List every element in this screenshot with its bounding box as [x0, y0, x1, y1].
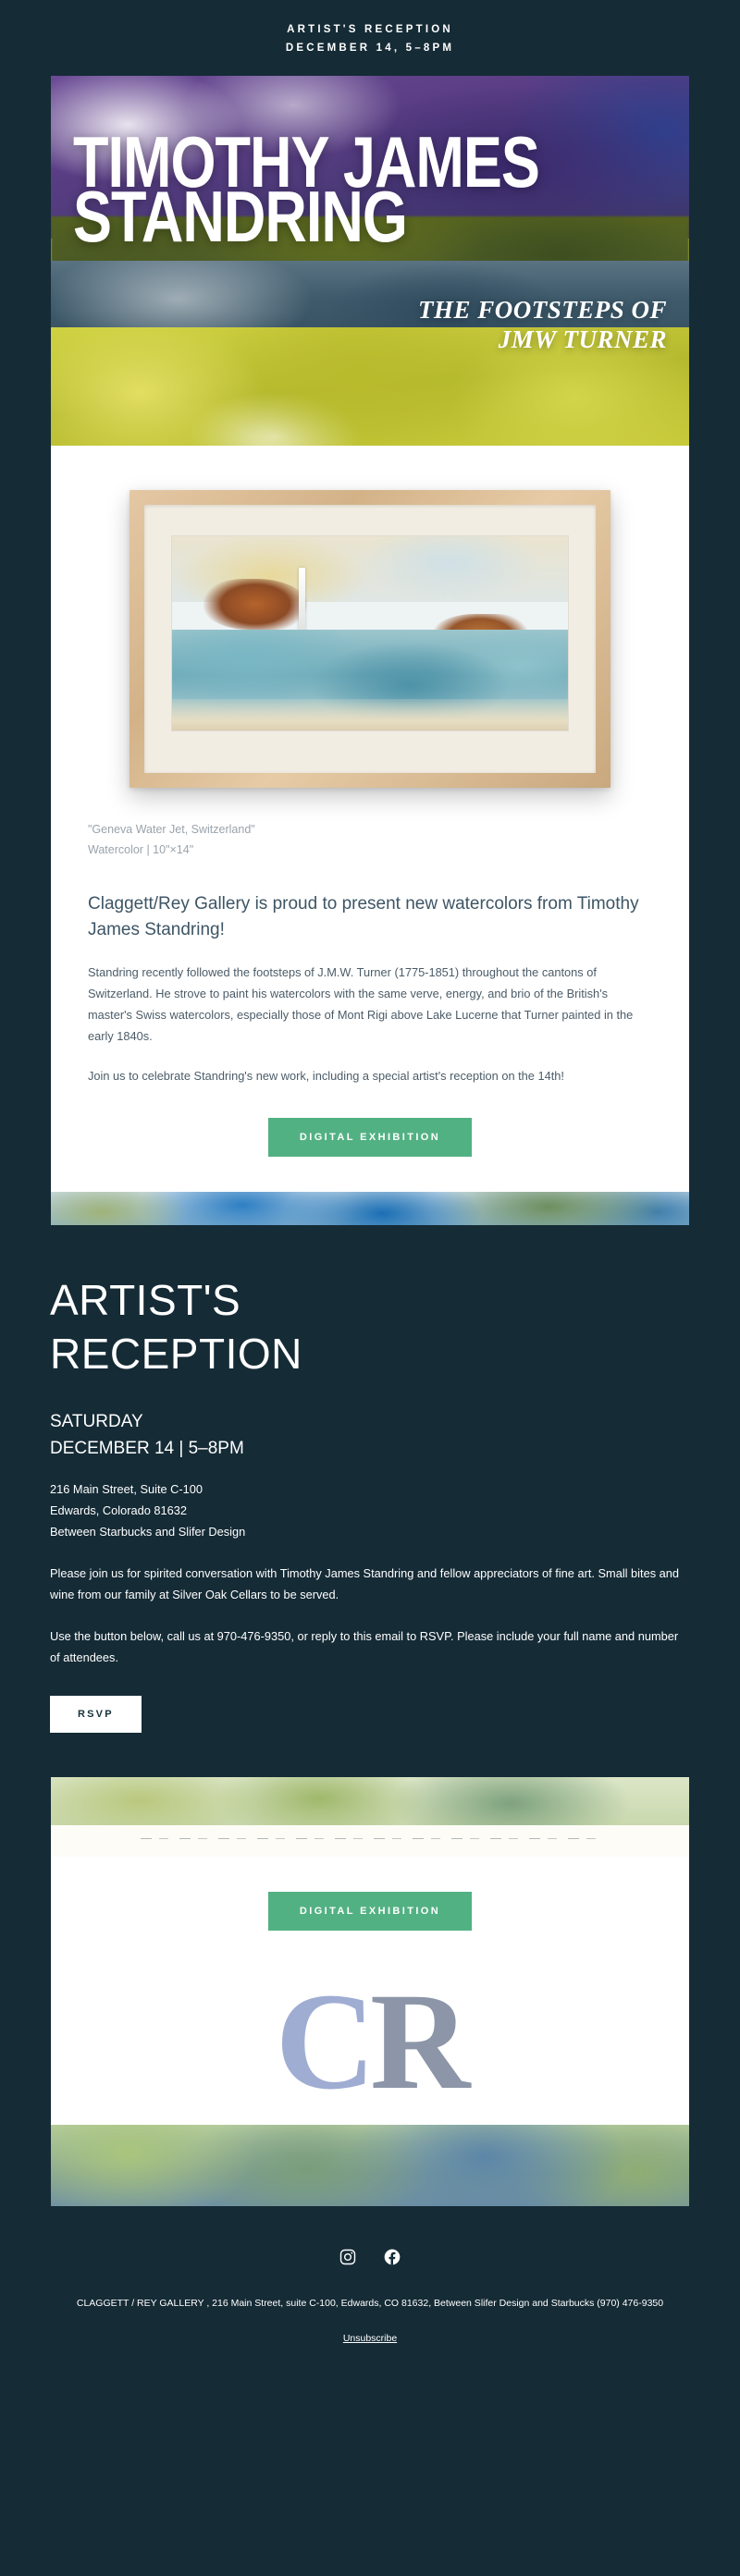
intro-copy-section: Claggett/Rey Gallery is proud to present…: [51, 860, 689, 1086]
intro-cta-wrapper: DIGITAL EXHIBITION: [51, 1086, 689, 1157]
preheader-line-2: DECEMBER 14, 5–8PM: [0, 39, 740, 57]
instagram-icon[interactable]: [338, 2247, 358, 2267]
artwork-painting: [172, 536, 568, 730]
rsvp-button[interactable]: RSVP: [50, 1696, 142, 1733]
logo-letter-r: R: [370, 1965, 464, 2118]
hero-subtitle-line1: THE FOOTSTEPS OF: [73, 296, 667, 325]
social-links-row: [55, 2247, 684, 2267]
painting-water-jet: [299, 568, 305, 633]
hero-subtitle-line2: JMW TURNER: [73, 325, 667, 355]
reception-paragraph-2: Use the button below, call us at 970-476…: [50, 1625, 690, 1668]
artwork-frame: [129, 490, 610, 788]
painting-left-cliff: [203, 579, 306, 630]
reception-title-line1: ARTIST'S: [50, 1273, 690, 1327]
logo-letter-c: C: [276, 1965, 370, 2118]
email-page: ARTIST'S RECEPTION DECEMBER 14, 5–8PM TI…: [0, 0, 740, 2377]
intro-paragraph-1: Standring recently followed the footstep…: [88, 962, 652, 1047]
hero-subtitle: THE FOOTSTEPS OF JMW TURNER: [73, 296, 667, 355]
bottom-image-block: DIGITAL EXHIBITION CR: [51, 1777, 689, 2206]
bottom-cta-wrapper: DIGITAL EXHIBITION: [51, 1857, 689, 1958]
reception-day: SATURDAY: [50, 1408, 690, 1435]
reception-address-line-1: 216 Main Street, Suite C-100: [50, 1478, 690, 1500]
painting-shore-layer: [172, 699, 568, 730]
digital-exhibition-button-bottom[interactable]: DIGITAL EXHIBITION: [268, 1892, 472, 1931]
facebook-icon[interactable]: [382, 2247, 402, 2267]
intro-paragraph-2: Join us to celebrate Standring's new wor…: [88, 1065, 652, 1086]
reception-address-block: 216 Main Street, Suite C-100 Edwards, Co…: [50, 1478, 690, 1542]
reception-datetime: DECEMBER 14 | 5–8PM: [50, 1435, 690, 1462]
artwork-title: "Geneva Water Jet, Switzerland": [88, 819, 652, 840]
white-content-panel: "Geneva Water Jet, Switzerland" Watercol…: [51, 446, 689, 1225]
reception-paragraph-1: Please join us for spirited conversation…: [50, 1563, 690, 1605]
artwork-medium: Watercolor | 10"×14": [88, 840, 652, 860]
preheader: ARTIST'S RECEPTION DECEMBER 14, 5–8PM: [0, 0, 740, 76]
footer-address: CLAGGETT / REY GALLERY , 216 Main Street…: [55, 2295, 684, 2312]
artwork-mat: [144, 505, 596, 773]
featured-artwork-section: [51, 446, 689, 795]
hero-artist-name-line2: STANDRING: [73, 184, 667, 251]
hero-banner[interactable]: TIMOTHY JAMES STANDRING THE FOOTSTEPS OF…: [51, 76, 689, 446]
reception-when-block: SATURDAY DECEMBER 14 | 5–8PM: [50, 1408, 690, 1462]
bottom-watercolor-top: [51, 1777, 689, 1825]
bottom-watercolor-landscape: [51, 2125, 689, 2206]
reception-title-line2: RECEPTION: [50, 1327, 690, 1380]
watercolor-divider-strip: [51, 1192, 689, 1225]
intro-heading: Claggett/Rey Gallery is proud to present…: [88, 891, 652, 943]
content-column: TIMOTHY JAMES STANDRING THE FOOTSTEPS OF…: [51, 76, 689, 1225]
hero-text-block: TIMOTHY JAMES STANDRING THE FOOTSTEPS OF…: [51, 129, 689, 355]
digital-exhibition-button-top[interactable]: DIGITAL EXHIBITION: [268, 1118, 472, 1157]
footer: CLAGGETT / REY GALLERY , 216 Main Street…: [0, 2206, 740, 2377]
reception-address-line-2: Edwards, Colorado 81632: [50, 1500, 690, 1521]
artwork-caption: "Geneva Water Jet, Switzerland" Watercol…: [51, 795, 689, 860]
reception-section: ARTIST'S RECEPTION SATURDAY DECEMBER 14 …: [0, 1225, 740, 1733]
bottom-handwriting-band: [51, 1825, 689, 1857]
gallery-logo-zone: CR: [51, 1958, 689, 2125]
gallery-logo-mark: CR: [276, 1972, 465, 2111]
unsubscribe-link[interactable]: Unsubscribe: [343, 2333, 397, 2344]
reception-address-line-3: Between Starbucks and Slifer Design: [50, 1521, 690, 1542]
preheader-line-1: ARTIST'S RECEPTION: [0, 20, 740, 39]
